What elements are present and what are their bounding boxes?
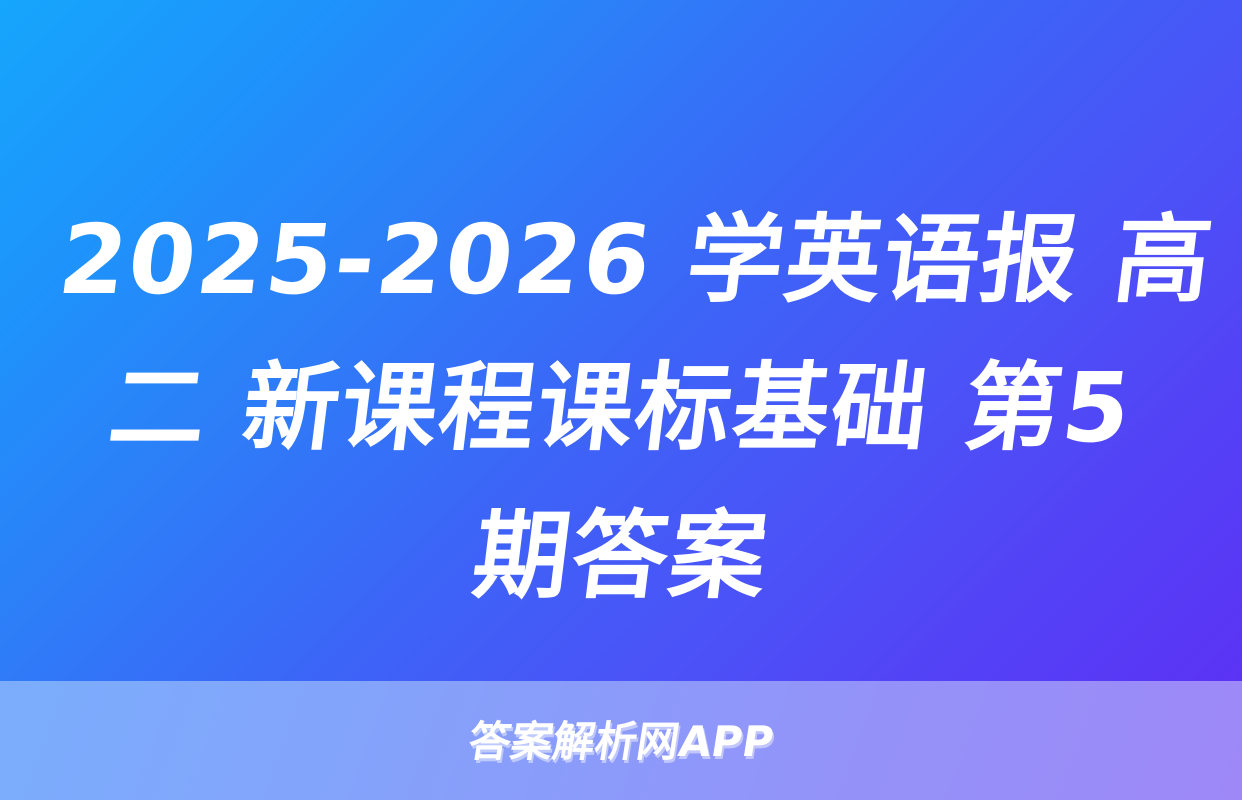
title-line-3: 期答案 [51, 482, 1191, 630]
promo-poster: 2025-2026 学英语报 高 二 新课程课标基础 第5 期答案 答案解析网A… [0, 0, 1242, 800]
title-line-2: 二 新课程课标基础 第5 [51, 334, 1191, 482]
title-line-1: 2025-2026 学英语报 高 [51, 186, 1191, 334]
app-brand-label: 答案解析网APP [465, 718, 777, 766]
page-title: 2025-2026 学英语报 高 二 新课程课标基础 第5 期答案 [0, 186, 1242, 630]
footer-watermark-band: 答案解析网APP [0, 681, 1242, 800]
